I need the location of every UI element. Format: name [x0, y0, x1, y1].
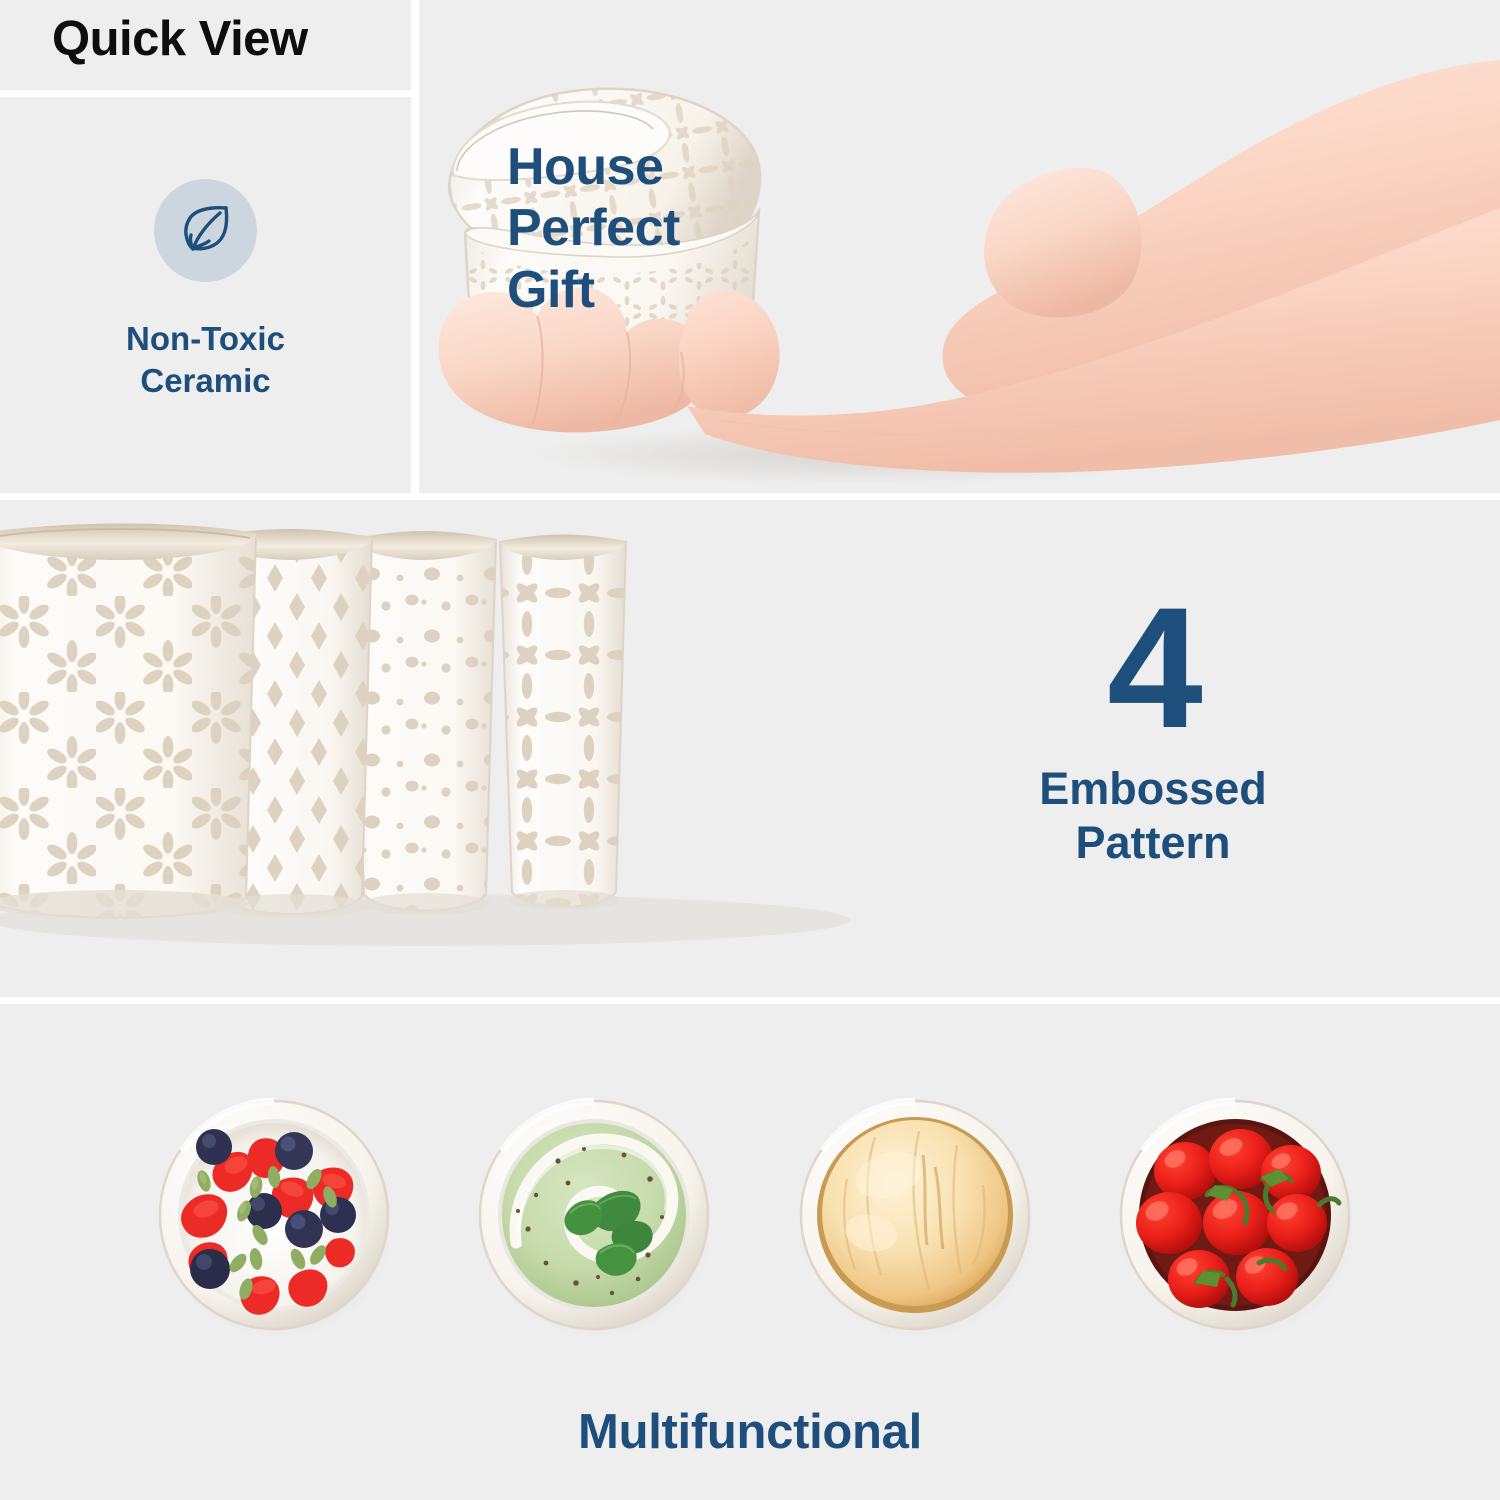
pattern-count-label: Embossed Pattern	[953, 762, 1353, 870]
pattern-count-callout: 4 Embossed Pattern	[953, 593, 1353, 870]
feature-content: Non-Toxic Ceramic	[0, 97, 411, 493]
bowl-green-soup	[472, 1093, 720, 1343]
gift-headline: House Perfect Gift	[507, 137, 827, 321]
bowl-cherry-tomatoes	[1113, 1093, 1361, 1343]
page-title: Quick View	[52, 11, 308, 67]
product-infographic: Quick View Non-Toxic Ceramic	[0, 0, 1500, 1500]
feature-label: Non-Toxic Ceramic	[126, 318, 285, 401]
feature-panel-non-toxic: Non-Toxic Ceramic	[0, 97, 411, 493]
leaf-icon	[154, 179, 257, 282]
pattern-count-number: 4	[953, 593, 1353, 744]
bowl-lineup-image	[0, 500, 960, 997]
bowl-flower-pattern	[0, 524, 270, 925]
gift-panel: House Perfect Gift	[419, 0, 1500, 493]
bowl-souffle	[793, 1093, 1041, 1343]
bowl-lattice-pattern	[490, 535, 640, 921]
quick-view-header-panel: Quick View	[0, 0, 411, 90]
bowl-yogurt-berries	[152, 1093, 400, 1343]
multifunctional-label: Multifunctional	[0, 1404, 1500, 1460]
